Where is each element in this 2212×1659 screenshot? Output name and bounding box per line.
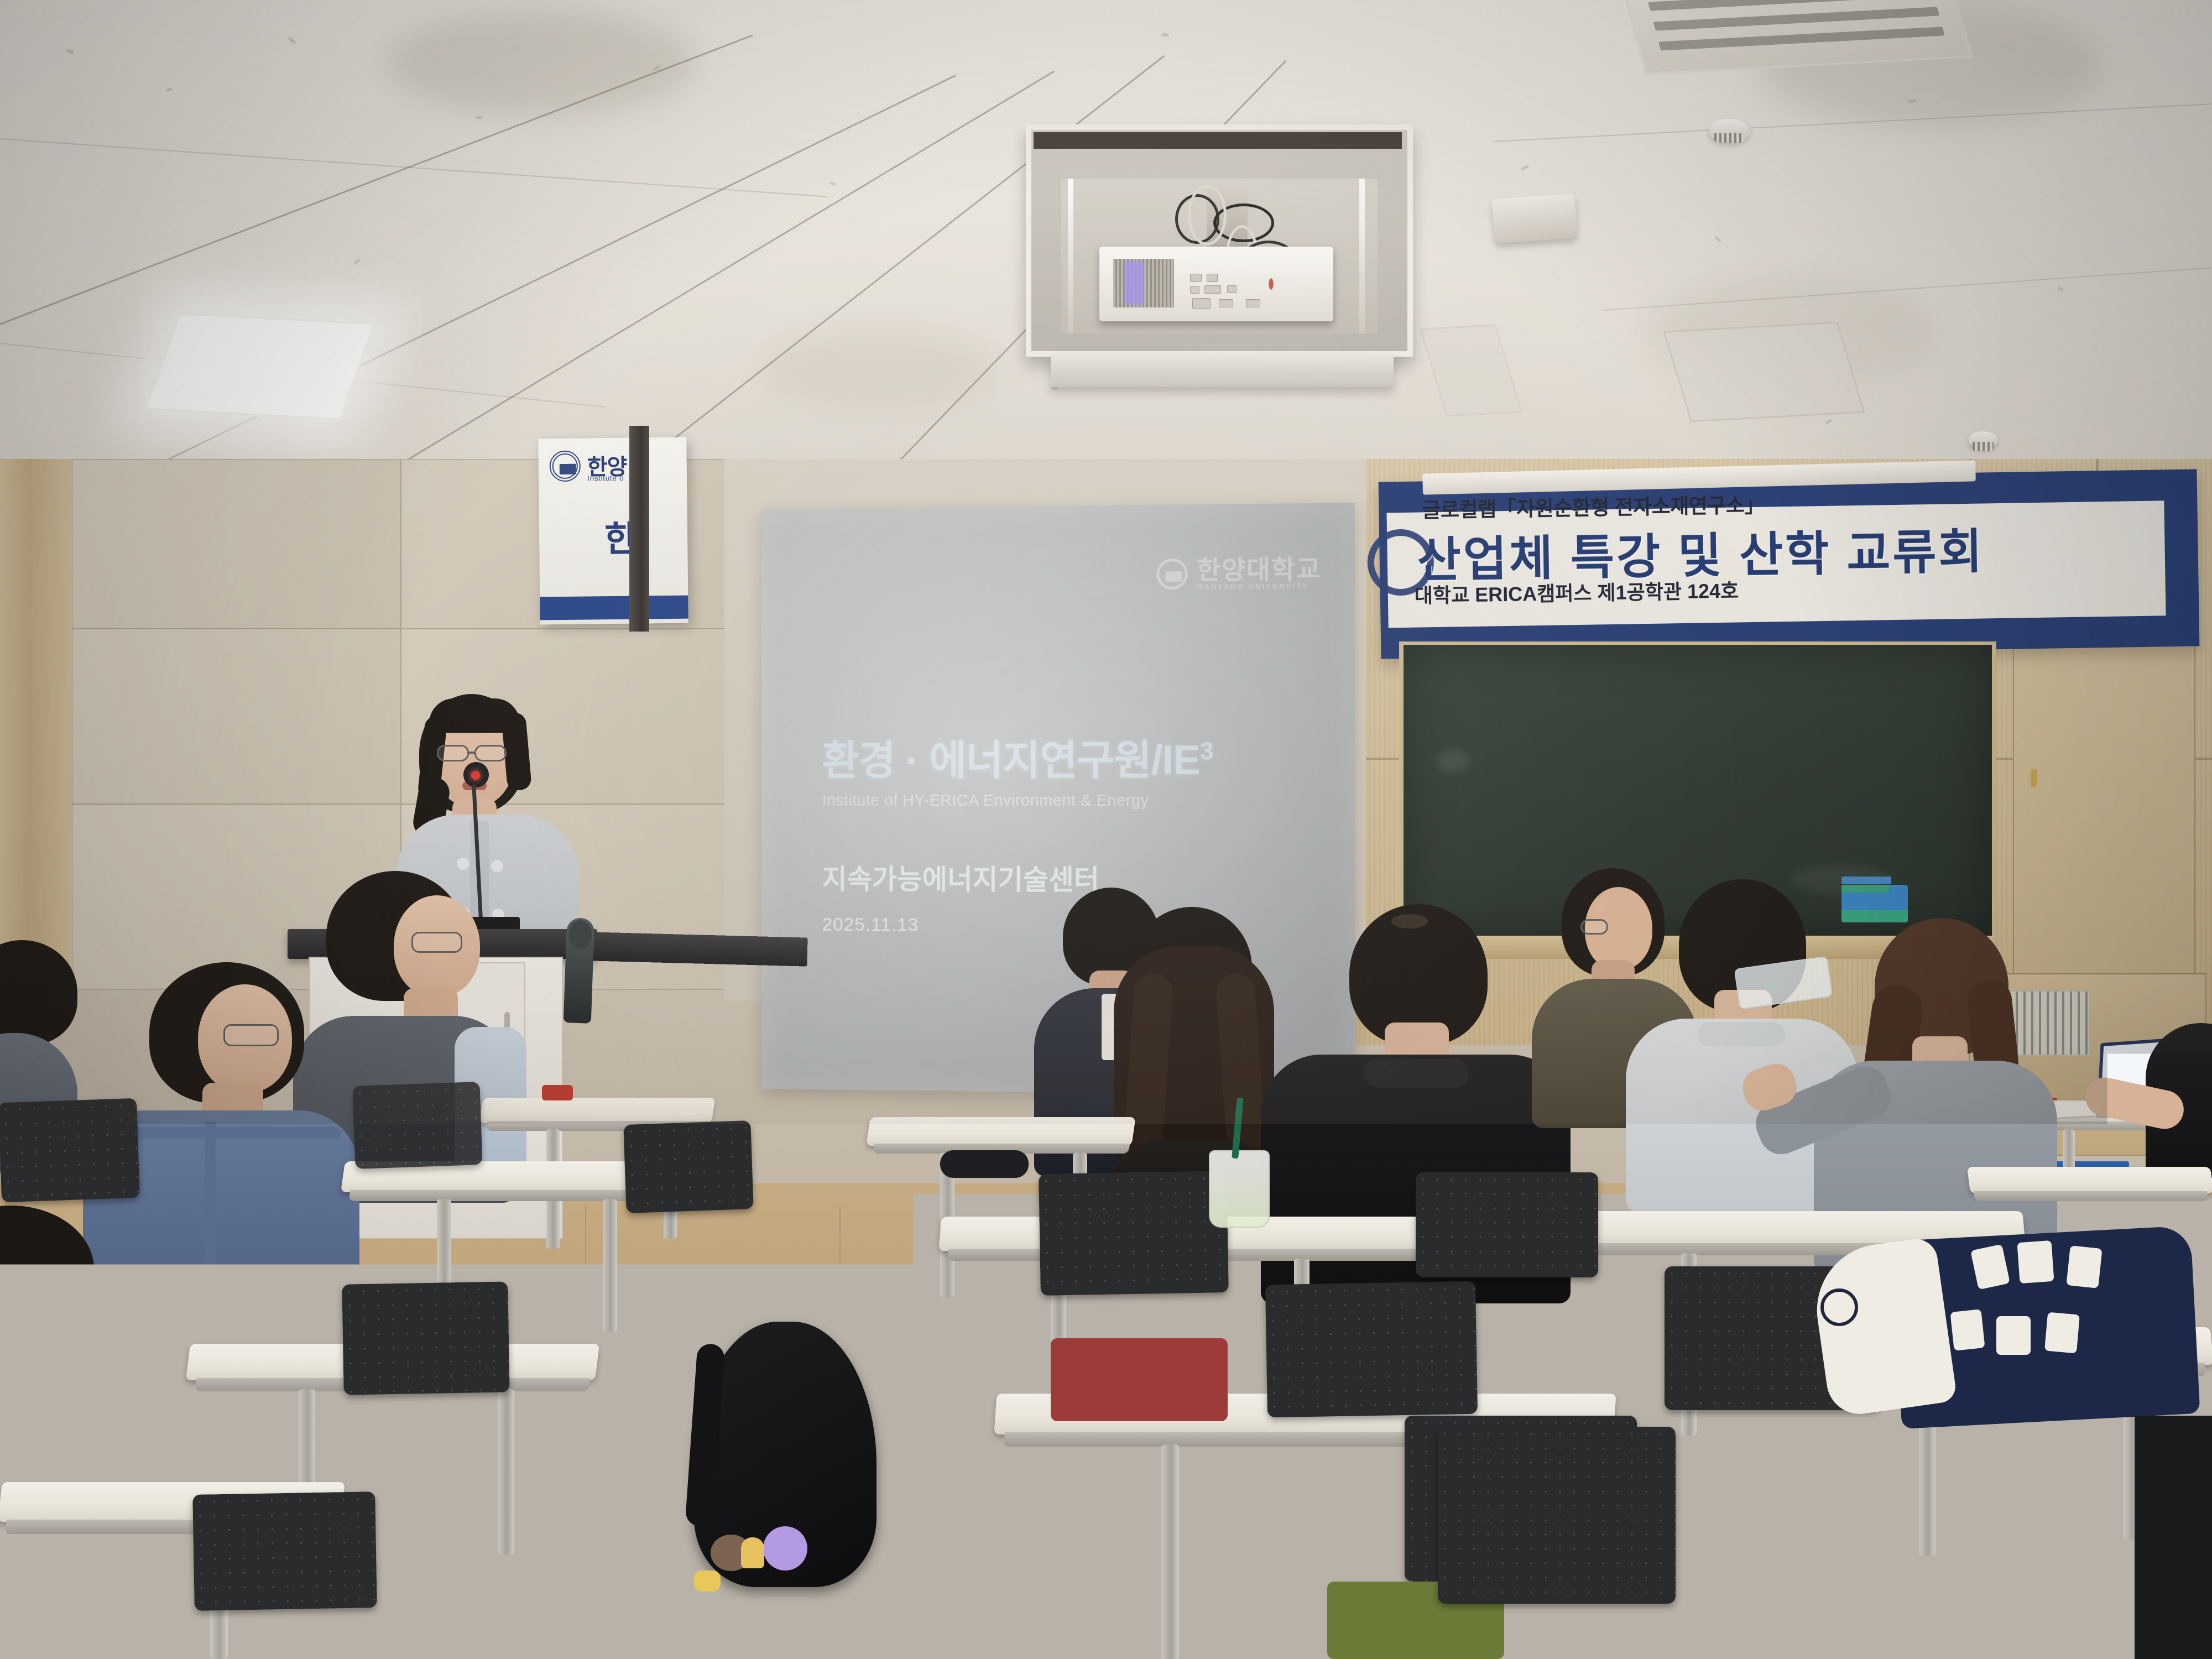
banner-support-post [629,426,649,632]
jacket-button [491,860,503,872]
chair[interactable] [342,1281,509,1395]
varsity-letter [1996,1316,2031,1355]
ceiling-light-panel-dim-2 [1420,324,1522,416]
hanyang-seal-icon [1157,559,1188,590]
chair-seat[interactable] [1051,1338,1228,1421]
chair[interactable] [192,1491,377,1611]
chair[interactable] [1039,1171,1229,1296]
presenter-glasses-right [474,745,507,761]
hanyang-seal-icon-banner [549,451,581,482]
varsity-jacket-patch-icon [1820,1288,1858,1326]
slide-university-logo: 한양대학교 HANYANG UNIVERSITY [1157,556,1321,591]
presenter-glasses [437,745,469,761]
iced-drink-cup[interactable] [1209,1150,1270,1228]
logo-english-text: HANYANG UNIVERSITY [1197,582,1321,591]
handheld-microphone[interactable] [564,917,595,1024]
slide-heading: 환경 · 에너지연구원/IE3 [822,727,1297,786]
plush-charm-purple [763,1526,807,1571]
varsity-letter [2044,1312,2080,1354]
plush-charm-figure [741,1537,764,1568]
ceiling [0,0,2212,498]
vest-man-glasses [411,932,462,953]
ceiling-light-panel [145,313,375,420]
denim-man-glasses [223,1024,279,1046]
classroom-photo-scene: 한양대학교 HANYANG UNIVERSITY 환경 · 에너지연구원/IE3… [0,0,2212,1659]
slide-heading-superscript: 3 [1200,738,1213,765]
projection-screen-housing [1051,354,1394,387]
projector-lift-box [1026,124,1413,357]
wood-wall-trim-left [0,459,72,1012]
event-banner: 글로컬랩「자원순환형 전자소재연구소」 산업체 특강 및 산학 교류회 대학교 … [1379,469,2200,659]
ceiling-speaker-icon [1491,194,1577,243]
chair[interactable] [1265,1281,1478,1418]
red-object-on-desk[interactable] [542,1085,573,1100]
headphones-on-desk[interactable] [940,1150,1029,1178]
banner-line-3-location: 대학교 ERICA캠퍼스 제1공학관 124호 [1414,575,1739,608]
left-vertical-banner: 한양 Institute o 한 [538,437,688,625]
staff-with-laptop [2146,990,2212,1178]
smoke-detector-icon [1709,119,1750,142]
logo-korean-text: 한양대학교 [1197,556,1321,583]
varsity-letter [2017,1240,2054,1284]
chair[interactable] [0,1098,140,1203]
chair[interactable] [623,1120,753,1213]
desk [1620,1460,2173,1659]
varsity-letter [2066,1245,2102,1288]
projector [1099,247,1333,321]
chair[interactable] [352,1082,482,1169]
banner-left-org-english: Institute o [587,473,624,483]
varsity-letter [1950,1309,1985,1350]
door-handle-icon[interactable] [2031,769,2037,787]
sprinkler-head-icon [1969,431,1997,448]
chair[interactable] [1416,1172,1598,1277]
slide-subheading-english: Institute of HY-ERICA Environment & Ener… [822,792,1297,810]
plush-charm-yellow [694,1571,721,1592]
microphone-status-led [471,771,480,780]
ceiling-light-panel-dim [1663,322,1865,422]
